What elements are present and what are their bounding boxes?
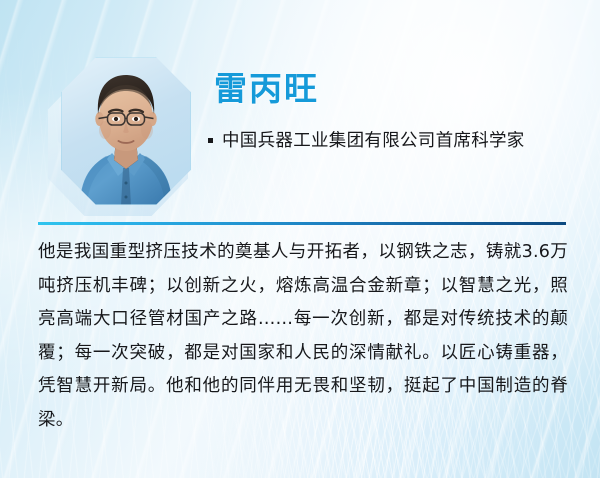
portrait-frame xyxy=(60,56,192,206)
bullet-icon xyxy=(208,138,213,143)
section-divider xyxy=(38,222,566,225)
portrait-photo xyxy=(60,56,192,206)
portrait xyxy=(42,44,200,216)
person-role: 中国兵器工业集团有限公司首席科学家 xyxy=(208,127,576,155)
profile-poster: 雷丙旺 中国兵器工业集团有限公司首席科学家 他是我国重型挤压技术的奠基人与开拓者… xyxy=(0,0,600,478)
description-text: 他是我国重型挤压技术的奠基人与开拓者，以钢铁之志，铸就3.6万吨挤压机丰碑；以创… xyxy=(38,236,568,437)
person-role-text: 中国兵器工业集团有限公司首席科学家 xyxy=(222,127,525,155)
person-name: 雷丙旺 xyxy=(214,72,319,105)
